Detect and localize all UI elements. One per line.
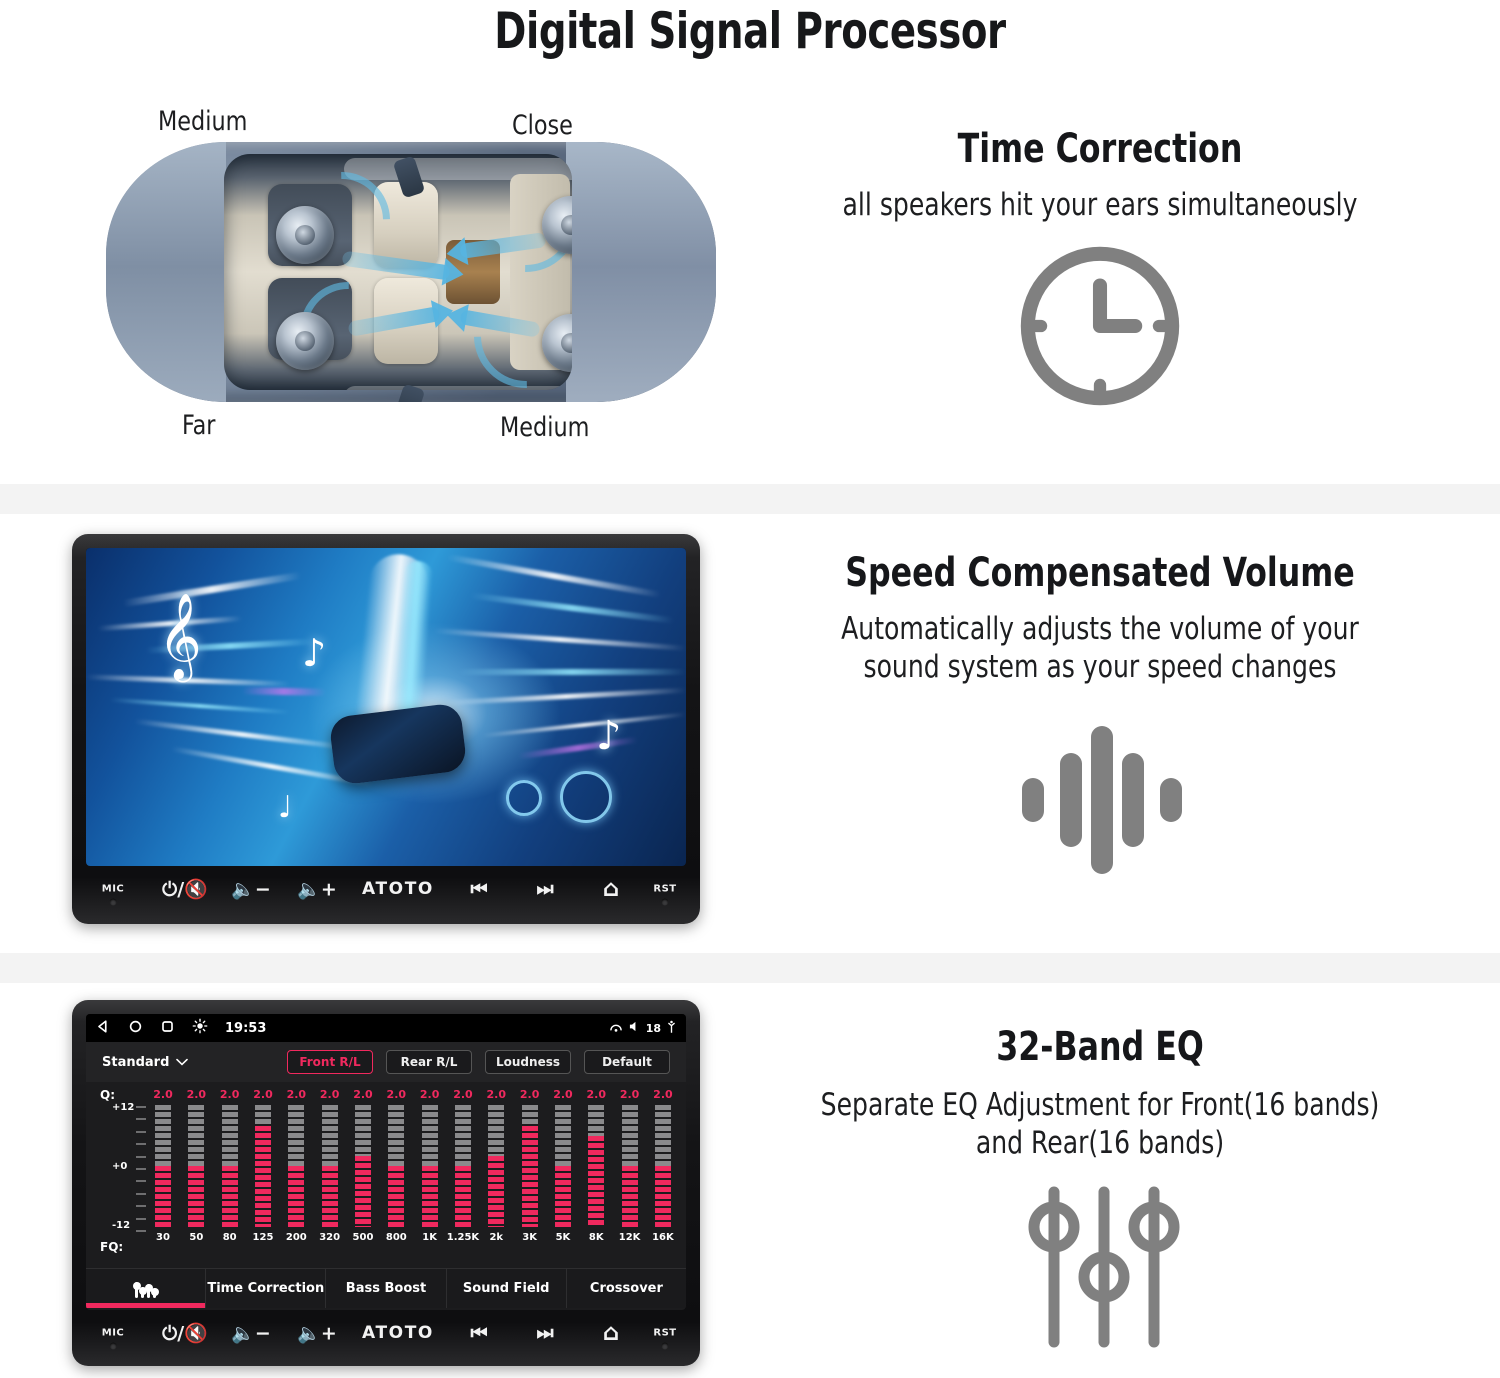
eq-band[interactable]: 2.02k xyxy=(481,1088,511,1243)
car-top-view xyxy=(106,142,716,402)
eq-frequency-label: 12K xyxy=(619,1232,641,1243)
side-mirror-photo xyxy=(328,702,467,786)
car-cabin xyxy=(224,154,572,390)
home-circle-icon[interactable] xyxy=(128,1019,143,1038)
volume-down-button[interactable]: 🔈− xyxy=(231,1322,271,1345)
back-triangle-icon[interactable] xyxy=(96,1019,111,1038)
speaker-rear-left-lower xyxy=(276,312,334,370)
eq-band-bar[interactable] xyxy=(488,1105,504,1227)
eq-band[interactable]: 2.030 xyxy=(148,1088,178,1243)
clock-icon xyxy=(1012,238,1188,419)
eq-band-bar[interactable] xyxy=(255,1105,271,1227)
eq-graph: Q: FQ: +12 +0 -12 2.0302.0502.0802.01252… xyxy=(86,1082,686,1268)
eq-frequency-label: 2k xyxy=(489,1232,503,1243)
eq-subtext-line1: Separate EQ Adjustment for Front(16 band… xyxy=(758,1086,1442,1124)
eq-frequency-label: 50 xyxy=(189,1232,203,1243)
eq-band[interactable]: 2.01K xyxy=(415,1088,445,1243)
eq-q-value: 2.0 xyxy=(253,1088,273,1101)
eq-band-fill xyxy=(455,1166,471,1227)
eq-band-fill xyxy=(555,1166,571,1227)
eq-axis-tick xyxy=(136,1230,146,1232)
equalizer-icon xyxy=(135,1280,156,1298)
car-label-bottom-left: Far xyxy=(182,410,215,441)
stereo-display-driving: 𝄞 ♪ ♪ ♩ xyxy=(86,548,686,866)
eq-band-fill xyxy=(622,1166,638,1227)
eq-q-value: 2.0 xyxy=(353,1088,373,1101)
eq-band-fill xyxy=(155,1166,171,1227)
eq-band[interactable]: 2.0800 xyxy=(381,1088,411,1243)
reset-button[interactable]: RST xyxy=(653,1328,676,1339)
eq-band[interactable]: 2.01.25K xyxy=(448,1088,478,1243)
eq-frequency-label: 30 xyxy=(156,1232,170,1243)
previous-track-button[interactable]: ⏮ xyxy=(470,1322,487,1344)
eq-band[interactable]: 2.08K xyxy=(581,1088,611,1243)
power-mute-button[interactable]: ⏻/🔇 xyxy=(162,878,208,901)
eq-q-value: 2.0 xyxy=(587,1088,607,1101)
android-status-bar: 19:53 18 xyxy=(86,1014,686,1042)
eq-band-fill xyxy=(588,1136,604,1228)
status-bar-time: 19:53 xyxy=(225,1021,266,1036)
page-title: Digital Signal Processor xyxy=(105,2,1395,60)
eq-frequency-label: 5K xyxy=(556,1232,571,1243)
axis-label-mid: +0 xyxy=(112,1161,127,1172)
tab-bass-boost[interactable]: Bass Boost xyxy=(326,1269,446,1308)
eq-band-fill xyxy=(288,1166,304,1227)
eq-q-value: 2.0 xyxy=(487,1088,507,1101)
preset-label: Standard xyxy=(102,1055,169,1070)
eq-band-bar[interactable] xyxy=(655,1105,671,1227)
eq-frequency-label: 3K xyxy=(522,1232,537,1243)
home-button[interactable]: ⌂ xyxy=(603,1320,619,1346)
eq-band-fill xyxy=(188,1166,204,1227)
q-row-label: Q: xyxy=(100,1088,115,1102)
stereo-button-row-eq: MIC ⏻/🔇 🔈− 🔈+ ATOTO ⏮ ⏭ ⌂ RST xyxy=(86,1310,686,1356)
section-divider-2 xyxy=(0,953,1500,983)
eq-axis-tick xyxy=(136,1118,146,1120)
eq-band-bar[interactable] xyxy=(588,1105,604,1227)
tab-crossover[interactable]: Crossover xyxy=(567,1269,686,1308)
next-track-button[interactable]: ⏭ xyxy=(536,878,553,900)
eq-band[interactable]: 2.016K xyxy=(648,1088,678,1243)
eq-band-fill xyxy=(322,1166,338,1227)
eq-heading: 32-Band EQ xyxy=(766,1024,1435,1070)
rear-rl-button[interactable]: Rear R/L xyxy=(386,1050,472,1074)
car-label-bottom-right: Medium xyxy=(500,412,589,443)
power-mute-button[interactable]: ⏻/🔇 xyxy=(162,1322,208,1345)
brand-logo: ATOTO xyxy=(362,1323,434,1343)
eq-frequency-label: 800 xyxy=(386,1232,407,1243)
eq-frequency-label: 125 xyxy=(253,1232,274,1243)
car-rear-section xyxy=(106,142,226,402)
equalizer-sliders-icon xyxy=(1014,1182,1194,1357)
eq-band-fill xyxy=(422,1166,438,1227)
reset-button[interactable]: RST xyxy=(653,884,676,895)
eq-q-value: 2.0 xyxy=(153,1088,173,1101)
brightness-sun-icon[interactable] xyxy=(192,1018,208,1038)
eq-frequency-label: 16K xyxy=(652,1232,674,1243)
brand-logo: ATOTO xyxy=(362,879,434,899)
eq-axis-tick xyxy=(136,1180,146,1182)
tab-equalizer[interactable] xyxy=(86,1269,206,1308)
eq-frequency-label: 80 xyxy=(223,1232,237,1243)
volume-up-button[interactable]: 🔈+ xyxy=(297,878,337,901)
axis-label-bottom: -12 xyxy=(112,1220,130,1231)
loudness-button[interactable]: Loudness xyxy=(485,1050,571,1074)
eq-q-value: 2.0 xyxy=(453,1088,473,1101)
car-label-top-left: Medium xyxy=(158,106,247,137)
eq-band-bar[interactable] xyxy=(322,1105,338,1227)
eq-band[interactable]: 2.0200 xyxy=(281,1088,311,1243)
music-note-icon: ♪ xyxy=(596,713,622,759)
eq-frequency-label: 320 xyxy=(319,1232,340,1243)
fq-row-label: FQ: xyxy=(100,1240,123,1254)
eq-tab-bar: Time Correction Bass Boost Sound Field C… xyxy=(86,1268,686,1308)
eq-band-bar[interactable] xyxy=(455,1105,471,1227)
eq-band-bar[interactable] xyxy=(155,1105,171,1227)
eq-q-value: 2.0 xyxy=(520,1088,540,1101)
eq-frequency-label: 1K xyxy=(422,1232,437,1243)
tab-sound-field[interactable]: Sound Field xyxy=(447,1269,567,1308)
eq-axis-tick xyxy=(136,1143,146,1145)
stereo-display-eq: 19:53 18 xyxy=(86,1014,686,1310)
eq-band-bar[interactable] xyxy=(222,1105,238,1227)
eq-band-fill xyxy=(222,1166,238,1227)
eq-band[interactable]: 2.03K xyxy=(515,1088,545,1243)
eq-axis-tick xyxy=(136,1205,146,1207)
eq-text: 32-Band EQ Separate EQ Adjustment for Fr… xyxy=(720,1024,1480,1162)
eq-band[interactable]: 2.05K xyxy=(548,1088,578,1243)
mic-button[interactable]: MIC xyxy=(102,884,125,895)
car-speaker-diagram: Medium Close Far Medium xyxy=(60,96,760,466)
eq-band[interactable]: 2.080 xyxy=(215,1088,245,1243)
eq-app: 19:53 18 xyxy=(86,1014,686,1310)
default-button[interactable]: Default xyxy=(584,1050,670,1074)
speedometer-gauge xyxy=(560,771,612,823)
time-correction-heading: Time Correction xyxy=(783,126,1417,172)
home-button[interactable]: ⌂ xyxy=(603,876,619,902)
eq-axis-tick xyxy=(136,1168,146,1170)
section-divider-1 xyxy=(0,484,1500,514)
time-correction-subtext: all speakers hit your ears simultaneousl… xyxy=(776,186,1424,224)
eq-axis-tick xyxy=(136,1131,146,1133)
eq-axis-tick xyxy=(136,1106,146,1108)
eq-q-value: 2.0 xyxy=(620,1088,640,1101)
eq-axis-tick xyxy=(136,1218,146,1220)
volume-down-button[interactable]: 🔈− xyxy=(231,878,271,901)
eq-q-value: 2.0 xyxy=(320,1088,340,1101)
eq-toolbar: Standard Front R/L Rear R/L Loudness Def… xyxy=(86,1042,686,1082)
eq-band-fill xyxy=(255,1126,271,1227)
eq-band-fill xyxy=(655,1166,671,1227)
speed-volume-subtext-line2: sound system as your speed changes xyxy=(776,648,1424,686)
speaker-rear-left xyxy=(276,206,334,264)
cast-icon xyxy=(609,1021,623,1036)
preset-selector[interactable]: Standard xyxy=(102,1055,188,1070)
car-stereo-unit-driving: 𝄞 ♪ ♪ ♩ MIC ⏻/🔇 🔈− 🔈+ ATOTO ⏮ ⏭ ⌂ RST xyxy=(72,534,700,924)
volume-up-button[interactable]: 🔈+ xyxy=(297,1322,337,1345)
eq-q-value: 2.0 xyxy=(220,1088,240,1101)
tab-time-correction[interactable]: Time Correction xyxy=(206,1269,326,1308)
eq-band-bar[interactable] xyxy=(522,1105,538,1227)
eq-band-bar[interactable] xyxy=(422,1105,438,1227)
eq-q-value: 2.0 xyxy=(287,1088,307,1101)
eq-band-bar[interactable] xyxy=(622,1105,638,1227)
previous-track-button[interactable]: ⏮ xyxy=(470,878,487,900)
eq-band-fill xyxy=(355,1156,371,1227)
eq-band[interactable]: 2.012K xyxy=(615,1088,645,1243)
car-label-top-right: Close xyxy=(512,110,573,141)
eq-q-value: 2.0 xyxy=(420,1088,440,1101)
eq-q-value: 2.0 xyxy=(653,1088,673,1101)
car-stereo-unit-eq: 19:53 18 xyxy=(72,1000,700,1366)
eq-band[interactable]: 2.0125 xyxy=(248,1088,278,1243)
infographic-page: Digital Signal Processor Medium Close Fa… xyxy=(0,0,1500,1378)
mic-button[interactable]: MIC xyxy=(102,1328,125,1339)
eq-axis-tick xyxy=(136,1193,146,1195)
eq-band-bar[interactable] xyxy=(555,1105,571,1227)
eq-band[interactable]: 2.0320 xyxy=(315,1088,345,1243)
eq-band-fill xyxy=(488,1156,504,1227)
speed-volume-heading: Speed Compensated Volume xyxy=(783,550,1417,596)
eq-band-bar[interactable] xyxy=(288,1105,304,1227)
eq-subtext-line2: and Rear(16 bands) xyxy=(758,1124,1442,1162)
eq-q-value: 2.0 xyxy=(553,1088,573,1101)
eq-axis-ticks xyxy=(136,1106,146,1230)
tachometer-gauge xyxy=(506,780,542,816)
eq-band[interactable]: 2.0500 xyxy=(348,1088,378,1243)
eq-band-list: 2.0302.0502.0802.01252.02002.03202.05002… xyxy=(148,1088,678,1243)
eq-axis-tick xyxy=(136,1156,146,1158)
eq-frequency-label: 1.25K xyxy=(447,1232,479,1243)
front-rl-button[interactable]: Front R/L xyxy=(287,1050,373,1074)
stereo-button-row-driving: MIC ⏻/🔇 🔈− 🔈+ ATOTO ⏮ ⏭ ⌂ RST xyxy=(86,866,686,912)
speed-volume-subtext-line1: Automatically adjusts the volume of your xyxy=(776,610,1424,648)
next-track-button[interactable]: ⏭ xyxy=(536,1322,553,1344)
speed-volume-text: Speed Compensated Volume Automatically a… xyxy=(740,550,1460,686)
driving-scene-image: 𝄞 ♪ ♪ ♩ xyxy=(86,548,686,866)
volume-level: 18 xyxy=(646,1022,661,1035)
eq-frequency-label: 8K xyxy=(589,1232,604,1243)
gps-antenna-icon xyxy=(667,1020,676,1036)
chevron-down-icon xyxy=(176,1055,188,1070)
time-correction-text: Time Correction all speakers hit your ea… xyxy=(740,126,1460,224)
music-note-icon: ♪ xyxy=(302,631,326,675)
eq-q-value: 2.0 xyxy=(187,1088,207,1101)
eq-band[interactable]: 2.050 xyxy=(181,1088,211,1243)
eq-frequency-label: 500 xyxy=(353,1232,374,1243)
music-note-icon: ♩ xyxy=(278,790,292,825)
eq-band-bar[interactable] xyxy=(388,1105,404,1227)
axis-label-top: +12 xyxy=(112,1102,134,1113)
eq-band-fill xyxy=(522,1126,538,1227)
car-front-section xyxy=(566,142,716,402)
eq-band-fill xyxy=(388,1166,404,1227)
speaker-icon xyxy=(629,1021,640,1035)
eq-frequency-label: 200 xyxy=(286,1232,307,1243)
audio-waveform-icon xyxy=(1012,712,1192,893)
eq-band-bar[interactable] xyxy=(188,1105,204,1227)
eq-q-value: 2.0 xyxy=(387,1088,407,1101)
recents-square-icon[interactable] xyxy=(160,1019,175,1038)
treble-clef-icon: 𝄞 xyxy=(158,593,202,680)
eq-band-bar[interactable] xyxy=(355,1105,371,1227)
